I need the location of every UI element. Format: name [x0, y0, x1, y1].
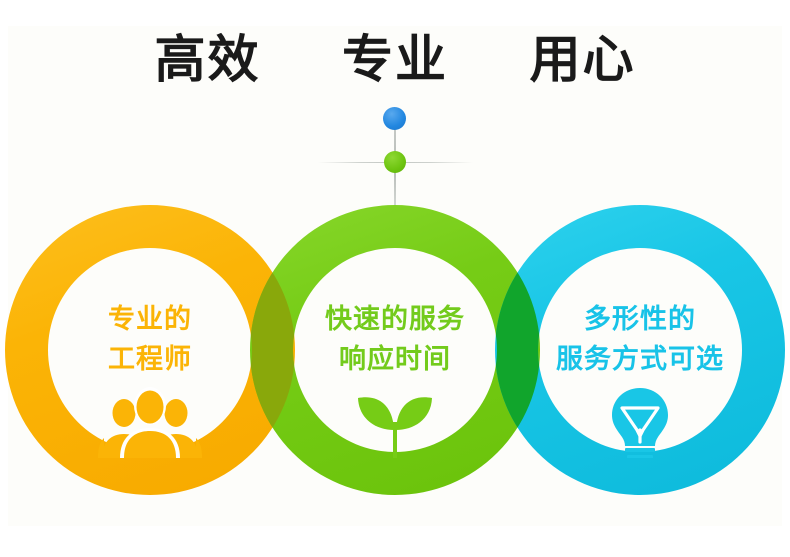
venn-diagram [0, 0, 790, 557]
poster-canvas: 高效 专业 用心 [0, 0, 790, 557]
